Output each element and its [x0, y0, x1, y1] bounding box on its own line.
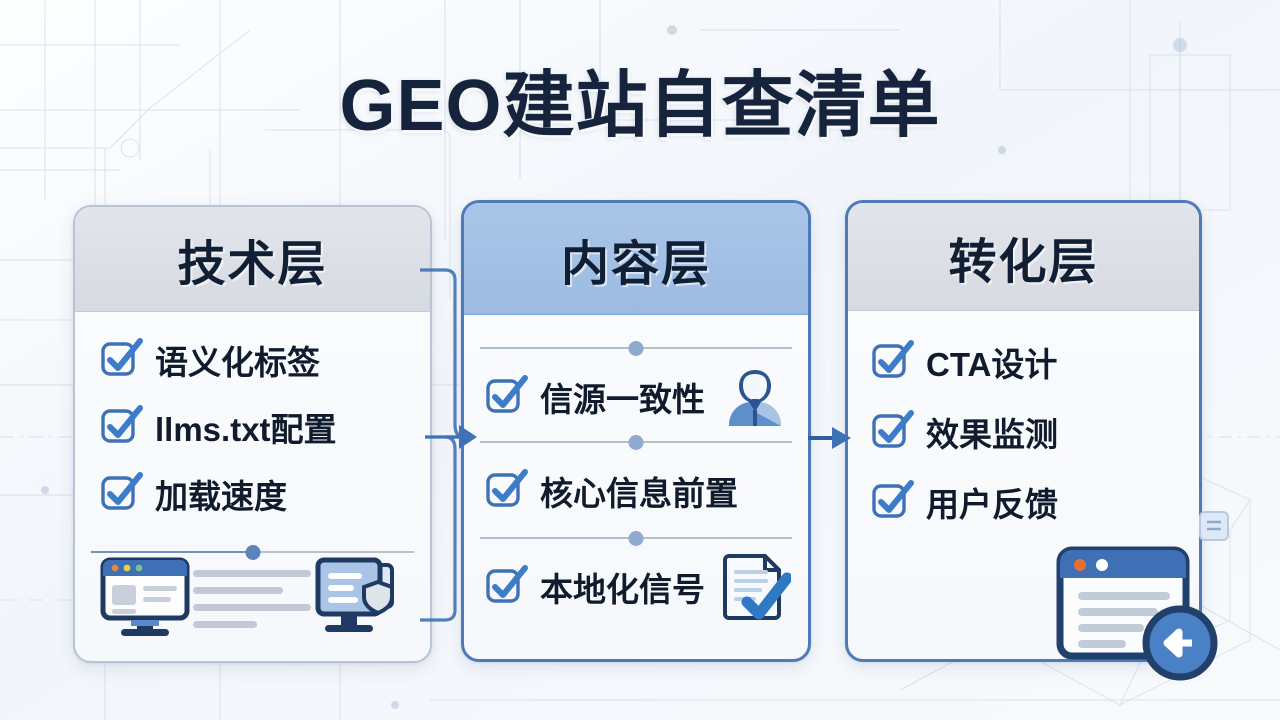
divider-line-right — [636, 441, 792, 443]
browser-monitor-icon — [99, 556, 191, 642]
divider-line-right — [636, 537, 792, 539]
checkbox-icon — [101, 407, 141, 447]
divider-dot — [629, 341, 644, 356]
checkbox-icon — [486, 377, 526, 417]
browser-window-arrow-icon — [1022, 510, 1252, 710]
checkbox-icon — [872, 342, 912, 382]
card-tech-footer-illustration — [75, 551, 430, 647]
person-icon — [723, 366, 787, 428]
divider-line-left — [480, 537, 636, 539]
divider-dot — [629, 435, 644, 450]
list-item[interactable]: CTA设计 — [848, 327, 1199, 397]
divider — [480, 341, 792, 355]
list-item[interactable]: llms.txt配置 — [75, 393, 430, 460]
list-item-label: 信源一致性 — [540, 373, 705, 421]
card-tech[interactable]: 技术层 语义化标签 llms.txt配置 — [73, 205, 432, 663]
infographic-canvas: GEO建站自查清单 技术层 语义化标签 — [0, 0, 1280, 720]
list-item-label: CTA设计 — [926, 338, 1057, 386]
divider-line-left — [480, 347, 636, 349]
card-content-header: 内容层 — [464, 203, 808, 315]
checkbox-icon — [872, 482, 912, 522]
divider — [480, 531, 792, 545]
card-conversion-header: 转化层 — [848, 203, 1199, 311]
checkbox-icon — [101, 474, 141, 514]
list-item-label: 效果监测 — [926, 408, 1058, 456]
list-item-label: 核心信息前置 — [540, 467, 738, 515]
card-tech-header: 技术层 — [75, 207, 430, 312]
page-title: GEO建站自查清单 — [0, 46, 1280, 151]
divider-line-left — [480, 441, 636, 443]
checkbox-icon — [872, 412, 912, 452]
card-content[interactable]: 内容层 信源一致性 — [461, 200, 811, 662]
divider-line-right — [636, 347, 792, 349]
divider — [480, 435, 792, 449]
text-lines-icon — [193, 570, 313, 628]
checkbox-icon — [101, 340, 141, 380]
document-check-icon — [721, 552, 791, 622]
card-content-body: 信源一致性 — [464, 315, 808, 659]
monitor-shield-icon — [314, 556, 406, 642]
list-item-label: 本地化信号 — [540, 563, 705, 611]
list-item-label: 语义化标签 — [155, 336, 320, 384]
list-item[interactable]: 核心信息前置 — [464, 455, 808, 527]
divider-dot — [629, 531, 644, 546]
list-item[interactable]: 信源一致性 — [464, 361, 808, 433]
checkbox-icon — [486, 567, 526, 607]
card-tech-body: 语义化标签 llms.txt配置 加载速度 — [75, 312, 430, 661]
list-item[interactable]: 加载速度 — [75, 460, 430, 527]
list-item[interactable]: 效果监测 — [848, 397, 1199, 467]
list-item-label: llms.txt配置 — [155, 403, 337, 451]
list-item-label: 加载速度 — [155, 470, 287, 518]
checkbox-icon — [486, 471, 526, 511]
list-item[interactable]: 本地化信号 — [464, 551, 808, 623]
list-item[interactable]: 语义化标签 — [75, 326, 430, 393]
